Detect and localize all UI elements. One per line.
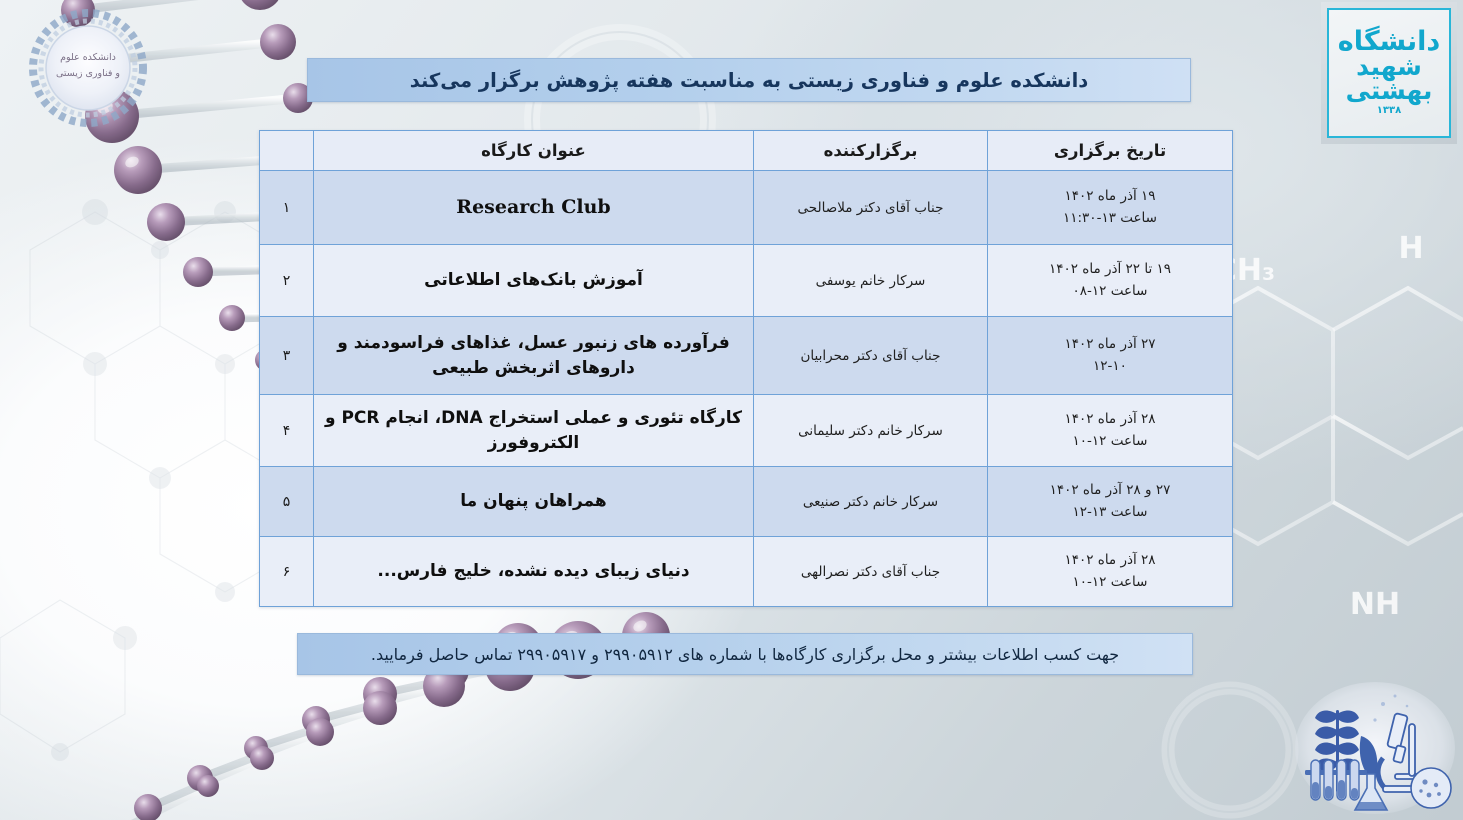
cell-title: کارگاه تئوری و عملی استخراج DNA، انجام P… bbox=[314, 395, 754, 467]
column-header-title: عنوان کارگاه bbox=[314, 131, 754, 171]
cell-number: ۵ bbox=[260, 467, 314, 537]
chem-label-nh: NH bbox=[1350, 587, 1400, 622]
univ-logo-year: ۱۳۳۸ bbox=[1377, 105, 1401, 116]
cell-host: جناب آقای دکتر نصرالهی bbox=[754, 537, 988, 607]
university-logo: دانشگاه شهید بهشتی ۱۳۳۸ bbox=[1321, 2, 1457, 144]
column-header-host: برگزارکننده bbox=[754, 131, 988, 171]
univ-logo-line1: دانشگاه bbox=[1338, 30, 1441, 55]
cell-title: آموزش بانک‌های اطلاعاتی bbox=[314, 245, 754, 317]
footer-contact-text: جهت کسب اطلاعات بیشتر و محل برگزاری کارگ… bbox=[371, 645, 1119, 664]
date-line-1: ۲۸ آذر ماه ۱۴۰۲ bbox=[996, 409, 1224, 431]
table-header: تاریخ برگزاری برگزارکننده عنوان کارگاه bbox=[260, 131, 1233, 171]
univ-logo-line2: شهید bbox=[1356, 55, 1422, 78]
cell-title: همراهان پنهان ما bbox=[314, 467, 754, 537]
cell-date: ۲۷ آذر ماه ۱۴۰۲ ۱۲-۱۰ bbox=[988, 317, 1233, 395]
date-line-1: ۲۸ آذر ماه ۱۴۰۲ bbox=[996, 550, 1224, 572]
cell-date: ۱۹ تا ۲۲ آذر ماه ۱۴۰۲ ساعت ۱۲-۰۸ bbox=[988, 245, 1233, 317]
cell-host: جناب آقای دکتر محرابیان bbox=[754, 317, 988, 395]
chem-label-h: H bbox=[1398, 231, 1423, 266]
date-line-1: ۲۷ آذر ماه ۱۴۰۲ bbox=[996, 334, 1224, 356]
cell-title: Research Club bbox=[314, 171, 754, 245]
table-row: ۲۷ و ۲۸ آذر ماه ۱۴۰۲ ساعت ۱۳-۱۲ سرکار خا… bbox=[260, 467, 1233, 537]
cell-number: ۴ bbox=[260, 395, 314, 467]
cell-date: ۲۸ آذر ماه ۱۴۰۲ ساعت ۱۲-۱۰ bbox=[988, 395, 1233, 467]
cell-host: سرکار خانم دکتر سلیمانی bbox=[754, 395, 988, 467]
date-line-2: ساعت ۱۲-۱۰ bbox=[996, 431, 1224, 453]
table-header-row: تاریخ برگزاری برگزارکننده عنوان کارگاه bbox=[260, 131, 1233, 171]
cell-title: دنیای زیبای دیده نشده، خلیج فارس... bbox=[314, 537, 754, 607]
cell-number: ۲ bbox=[260, 245, 314, 317]
date-line-1: ۱۹ آذر ماه ۱۴۰۲ bbox=[996, 186, 1224, 208]
cell-date: ۱۹ آذر ماه ۱۴۰۲ ساعت ۱۳-۱۱:۳۰ bbox=[988, 171, 1233, 245]
date-line-2: ساعت ۱۳-۱۲ bbox=[996, 502, 1224, 524]
faculty-seal-line1: دانشکده علوم bbox=[8, 50, 168, 66]
table-body: ۱۹ آذر ماه ۱۴۰۲ ساعت ۱۳-۱۱:۳۰ جناب آقای … bbox=[260, 171, 1233, 607]
date-line-2: ساعت ۱۳-۱۱:۳۰ bbox=[996, 208, 1224, 230]
date-line-2: ساعت ۱۲-۱۰ bbox=[996, 572, 1224, 594]
table-row: ۲۷ آذر ماه ۱۴۰۲ ۱۲-۱۰ جناب آقای دکتر محر… bbox=[260, 317, 1233, 395]
cell-date: ۲۸ آذر ماه ۱۴۰۲ ساعت ۱۲-۱۰ bbox=[988, 537, 1233, 607]
column-header-number bbox=[260, 131, 314, 171]
faculty-seal-logo: دانشکده علوم و فناوری زیستی bbox=[8, 6, 168, 131]
cell-host: سرکار خانم یوسفی bbox=[754, 245, 988, 317]
header-banner: دانشکده علوم و فناوری زیستی به مناسبت هف… bbox=[307, 58, 1191, 102]
table-row: ۲۸ آذر ماه ۱۴۰۲ ساعت ۱۲-۱۰ سرکار خانم دک… bbox=[260, 395, 1233, 467]
science-illustration-logo bbox=[1291, 678, 1459, 818]
table-row: ۲۸ آذر ماه ۱۴۰۲ ساعت ۱۲-۱۰ جناب آقای دکت… bbox=[260, 537, 1233, 607]
date-line-2: ساعت ۱۲-۰۸ bbox=[996, 281, 1224, 303]
date-line-1: ۱۹ تا ۲۲ آذر ماه ۱۴۰۲ bbox=[996, 259, 1224, 281]
workshop-schedule-table: تاریخ برگزاری برگزارکننده عنوان کارگاه ۱… bbox=[259, 130, 1233, 607]
column-header-date: تاریخ برگزاری bbox=[988, 131, 1233, 171]
university-logo-calligraphy: دانشگاه شهید بهشتی ۱۳۳۸ bbox=[1329, 10, 1449, 136]
date-line-2: ۱۲-۱۰ bbox=[996, 356, 1224, 378]
faculty-seal-line2: و فناوری زیستی bbox=[8, 66, 168, 82]
cell-date: ۲۷ و ۲۸ آذر ماه ۱۴۰۲ ساعت ۱۳-۱۲ bbox=[988, 467, 1233, 537]
date-line-1: ۲۷ و ۲۸ آذر ماه ۱۴۰۲ bbox=[996, 480, 1224, 502]
cell-title: فرآورده های زنبور عسل، غذاهای فراسودمند … bbox=[314, 317, 754, 395]
cell-host: سرکار خانم دکتر صنیعی bbox=[754, 467, 988, 537]
header-banner-text: دانشکده علوم و فناوری زیستی به مناسبت هف… bbox=[410, 69, 1089, 92]
table-row: ۱۹ آذر ماه ۱۴۰۲ ساعت ۱۳-۱۱:۳۰ جناب آقای … bbox=[260, 171, 1233, 245]
cell-host: جناب آقای دکتر ملاصالحی bbox=[754, 171, 988, 245]
footer-contact-banner: جهت کسب اطلاعات بیشتر و محل برگزاری کارگ… bbox=[297, 633, 1193, 675]
cell-icon bbox=[1411, 768, 1451, 808]
cell-number: ۳ bbox=[260, 317, 314, 395]
table-row: ۱۹ تا ۲۲ آذر ماه ۱۴۰۲ ساعت ۱۲-۰۸ سرکار خ… bbox=[260, 245, 1233, 317]
univ-logo-line3: بهشتی bbox=[1346, 79, 1433, 102]
cell-number: ۱ bbox=[260, 171, 314, 245]
poster-canvas: CH₃ H NH دانشکده علوم و فناو bbox=[0, 0, 1463, 820]
cell-number: ۶ bbox=[260, 537, 314, 607]
